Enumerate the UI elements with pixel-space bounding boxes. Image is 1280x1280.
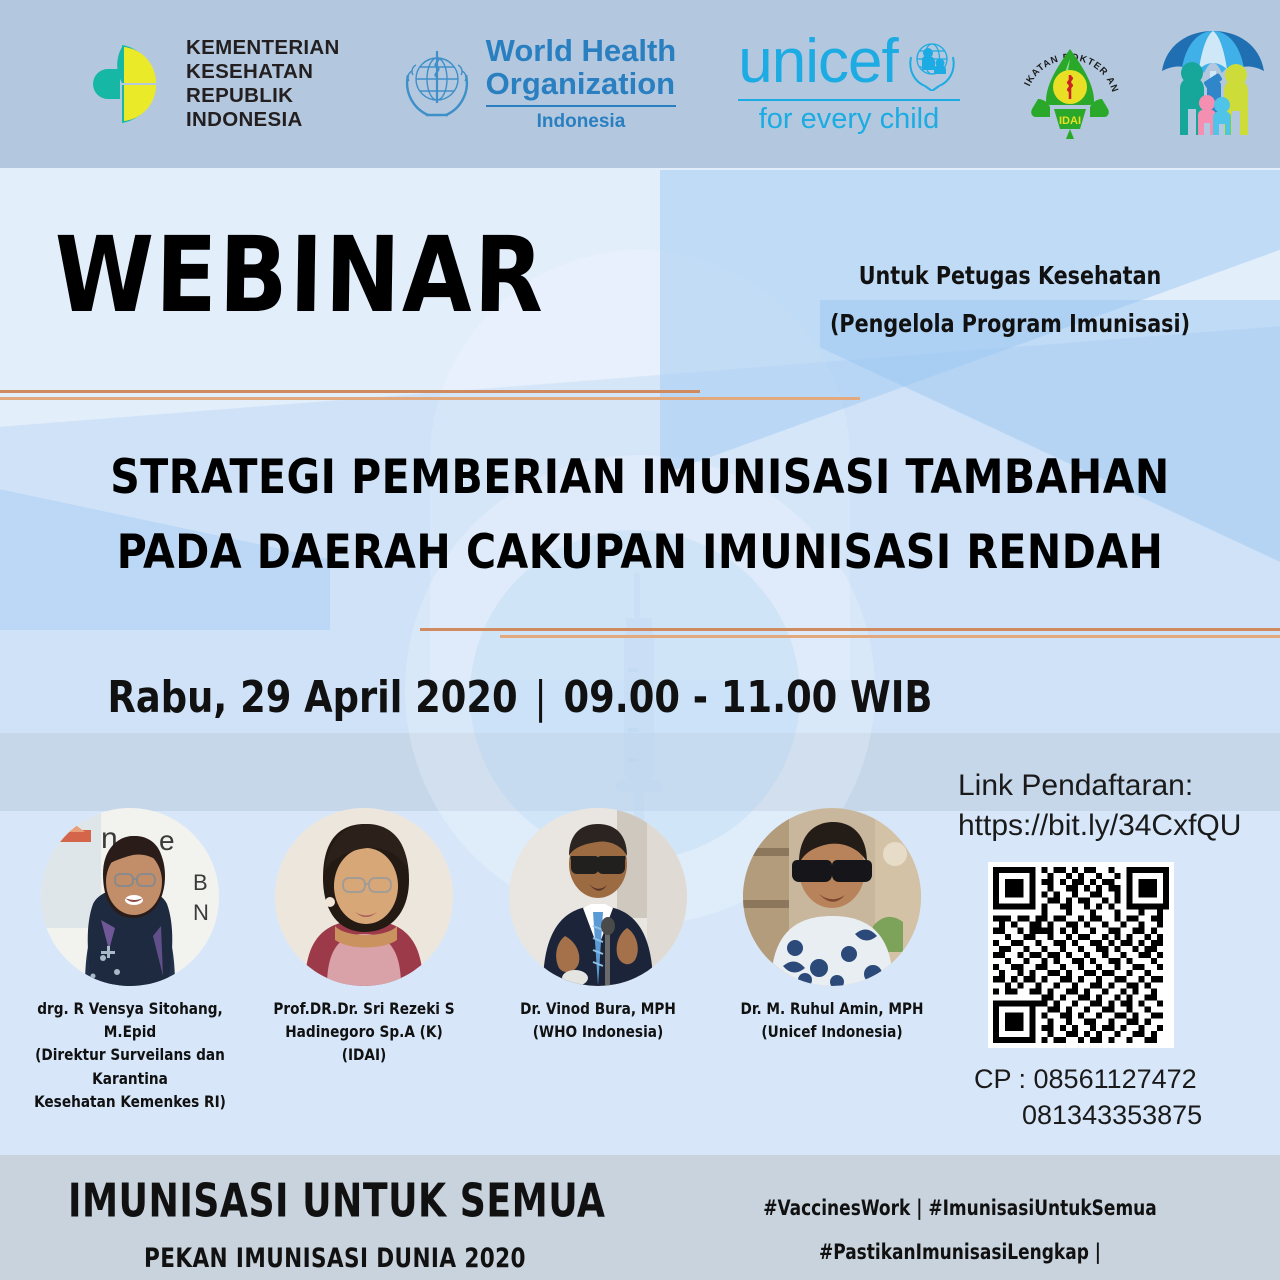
family-umbrella-icon xyxy=(1152,23,1274,145)
avatar xyxy=(509,808,687,986)
kemenkes-line-1: KEMENTERIAN xyxy=(186,36,340,60)
logo-header: KEMENTERIAN KESEHATAN REPUBLIK INDONESIA xyxy=(0,0,1280,168)
registration-label: Link Pendaftaran: xyxy=(958,766,1241,806)
avatar xyxy=(743,808,921,986)
logo-kemenkes: KEMENTERIAN KESEHATAN REPUBLIK INDONESIA xyxy=(86,36,340,131)
speaker-photo-1: n e B N xyxy=(41,808,219,986)
schedule-date: Rabu, 29 April 2020 xyxy=(108,672,518,723)
audience-line-1: Untuk Petugas Kesehatan xyxy=(817,252,1203,300)
speaker-photo-3 xyxy=(509,808,687,986)
kemenkes-line-3: REPUBLIK xyxy=(186,84,340,108)
who-country: Indonesia xyxy=(486,111,677,133)
avatar: n e B N xyxy=(41,808,219,986)
divider-top-line-1 xyxy=(0,390,700,393)
speaker-list: n e B N xyxy=(16,808,946,1113)
hashtags-line-2: #PastikanImunisasiLengkap | #PekanImunis… xyxy=(726,1230,1194,1280)
schedule-time: 09.00 - 11.00 WIB xyxy=(564,672,933,723)
speaker-card: Dr. Vinod Bura, MPH (WHO Indonesia) xyxy=(484,808,712,1113)
speaker-card: Prof.DR.Dr. Sri Rezeki S Hadinegoro Sp.A… xyxy=(250,808,478,1113)
kemenkes-line-2: KESEHATAN xyxy=(186,60,340,84)
speaker-name: Prof.DR.Dr. Sri Rezeki S Hadinegoro Sp.A… xyxy=(256,997,473,1067)
who-wordmark: World Health Organization Indonesia xyxy=(486,35,677,133)
hashtags-line-1: #VaccinesWork | #ImunisasiUntukSemua xyxy=(726,1186,1194,1230)
speaker-name: drg. R Vensya Sitohang, M.Epid (Direktur… xyxy=(22,997,239,1113)
footer-sub-text: PEKAN IMUNISASI DUNIA 2020 xyxy=(144,1242,608,1273)
contact-line-2: 081343353875 xyxy=(1022,1098,1202,1134)
unicef-tagline: for every child xyxy=(738,105,959,134)
contact-line-1: CP : 08561127472 xyxy=(974,1064,1197,1094)
divider-bottom xyxy=(420,628,1280,638)
footer-main-text: IMUNISASI UNTUK SEMUA xyxy=(68,1178,605,1224)
svg-text:N: N xyxy=(193,900,209,925)
idai-logo-icon: IKATAN DOKTER ANAK INDONESIA IDAI xyxy=(1014,25,1126,143)
page-title: WEBINAR xyxy=(53,224,546,328)
logo-who: World Health Organization Indonesia xyxy=(398,35,677,133)
speaker-photo-4 xyxy=(743,808,921,986)
footer-hashtags: #VaccinesWork | #ImunisasiUntukSemua #Pa… xyxy=(726,1186,1194,1280)
logo-unicef: unicef xyxy=(738,35,959,134)
speaker-card: Dr. M. Ruhul Amin, MPH (Unicef Indonesia… xyxy=(718,808,946,1113)
divider-top-line-2 xyxy=(0,397,860,400)
divider-top xyxy=(0,390,860,400)
speaker-photo-2 xyxy=(275,808,453,986)
speaker-card: n e B N xyxy=(16,808,244,1113)
logo-family-umbrella xyxy=(1152,23,1274,145)
svg-text:IDAI: IDAI xyxy=(1059,115,1081,127)
main-title: STRATEGI PEMBERIAN IMUNISASI TAMBAHAN PA… xyxy=(19,440,1261,590)
unicef-emblem-icon xyxy=(904,35,960,91)
who-emblem-icon xyxy=(398,45,476,123)
schedule-separator: | xyxy=(518,672,564,723)
who-divider xyxy=(486,105,677,107)
kemenkes-logo-icon xyxy=(86,37,172,131)
logo-idai: IKATAN DOKTER ANAK INDONESIA IDAI xyxy=(1014,25,1126,143)
avatar xyxy=(275,808,453,986)
unicef-divider xyxy=(738,99,959,101)
svg-text:B: B xyxy=(193,870,208,895)
qr-code[interactable] xyxy=(988,862,1174,1048)
qr-code-icon[interactable] xyxy=(993,867,1169,1043)
divider-bottom-line-1 xyxy=(420,628,1280,631)
speaker-name: Dr. M. Ruhul Amin, MPH (Unicef Indonesia… xyxy=(724,997,941,1043)
audience-note: Untuk Petugas Kesehatan (Pengelola Progr… xyxy=(817,252,1203,347)
contact-info: CP : 08561127472 081343353875 xyxy=(974,1062,1202,1134)
unicef-wordmark: unicef xyxy=(738,36,897,88)
registration-url[interactable]: https://bit.ly/34CxfQU xyxy=(958,806,1241,846)
main-title-line-1: STRATEGI PEMBERIAN IMUNISASI TAMBAHAN xyxy=(19,440,1261,515)
speaker-name: Dr. Vinod Bura, MPH (WHO Indonesia) xyxy=(490,997,707,1043)
who-line-1: World Health xyxy=(486,35,677,68)
svg-text:e: e xyxy=(159,825,175,856)
audience-line-2: (Pengelola Program Imunisasi) xyxy=(817,300,1203,348)
kemenkes-line-4: INDONESIA xyxy=(186,108,340,132)
footer-slogan: IMUNISASI UNTUK SEMUA PEKAN IMUNISASI DU… xyxy=(68,1178,628,1271)
unicef-wordmark-row: unicef xyxy=(738,35,959,91)
webinar-poster: KEMENTERIAN KESEHATAN REPUBLIK INDONESIA xyxy=(0,0,1280,1280)
who-line-2: Organization xyxy=(486,68,677,101)
kemenkes-wordmark: KEMENTERIAN KESEHATAN REPUBLIK INDONESIA xyxy=(186,36,340,131)
divider-bottom-line-2 xyxy=(500,635,1280,638)
schedule: Rabu, 29 April 2020|09.00 - 11.00 WIB xyxy=(36,672,1003,723)
main-title-line-2: PADA DAERAH CAKUPAN IMUNISASI RENDAH xyxy=(19,515,1261,590)
registration-link[interactable]: Link Pendaftaran: https://bit.ly/34CxfQU xyxy=(958,766,1241,845)
